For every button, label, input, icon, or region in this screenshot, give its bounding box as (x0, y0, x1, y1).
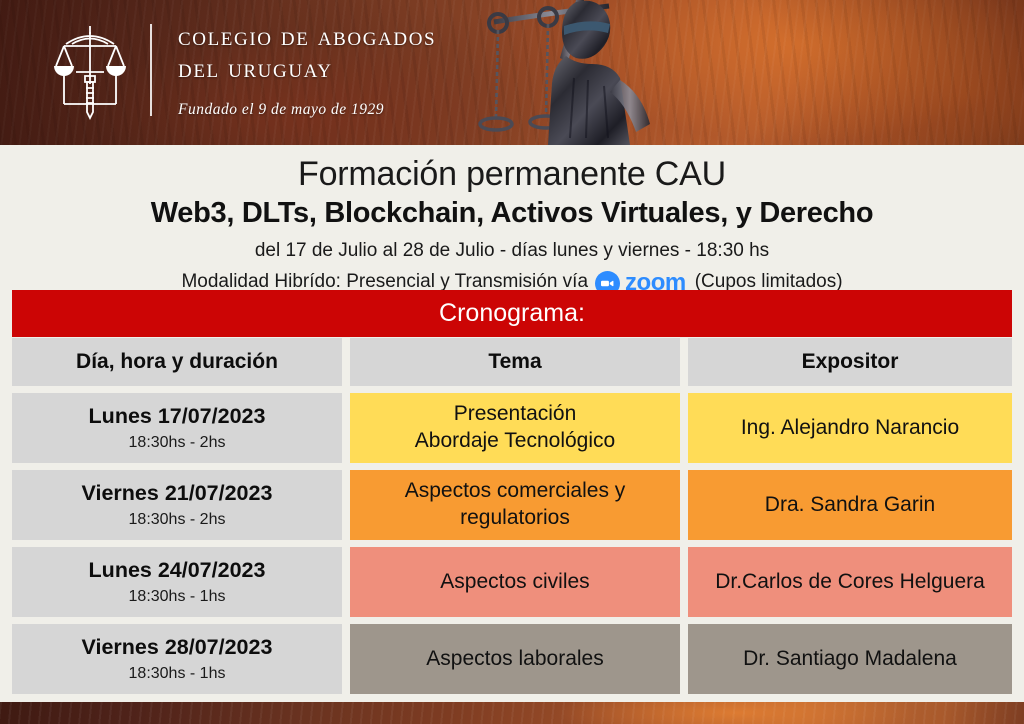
column-gap (680, 547, 688, 617)
footer-texture-overlay (0, 702, 1024, 724)
course-dates: del 17 de Julio al 28 de Julio - días lu… (0, 240, 1024, 263)
org-founded-text: Fundado el 9 de mayo de 1929 (178, 101, 436, 119)
column-gap (342, 547, 350, 617)
column-header-day: Día, hora y duración (12, 338, 342, 386)
column-gap (342, 338, 350, 386)
column-gap (680, 338, 688, 386)
column-gap (342, 393, 350, 463)
organization-name: Colegio de Abogados del Uruguay Fundado … (178, 21, 436, 119)
cell-speaker: Dra. Sandra Garin (688, 470, 1012, 540)
cell-day: Lunes 17/07/2023 18:30hs - 2hs (12, 393, 342, 463)
table-row: Lunes 24/07/2023 18:30hs - 1hs Aspectos … (12, 547, 1012, 617)
poster-root: Colegio de Abogados del Uruguay Fundado … (0, 0, 1024, 724)
footer-strip (0, 702, 1024, 724)
column-gap (680, 624, 688, 694)
cell-topic: Aspectos comerciales y regulatorios (350, 470, 680, 540)
table-header-row: Día, hora y duración Tema Expositor (12, 338, 1012, 386)
column-gap (342, 624, 350, 694)
column-gap (342, 470, 350, 540)
row-day-time: 18:30hs - 2hs (129, 511, 226, 529)
topic-line: Presentación (454, 401, 577, 428)
lady-justice-statue-image (424, 0, 724, 145)
cell-day: Viernes 28/07/2023 18:30hs - 1hs (12, 624, 342, 694)
topic-line: Aspectos laborales (426, 646, 603, 673)
cell-day: Lunes 24/07/2023 18:30hs - 1hs (12, 547, 342, 617)
org-name-line-1: Colegio de Abogados (178, 21, 436, 53)
cell-topic: Presentación Abordaje Tecnológico (350, 393, 680, 463)
row-day-time: 18:30hs - 1hs (129, 588, 226, 606)
logo-divider (150, 24, 152, 116)
column-header-topic: Tema (350, 338, 680, 386)
cell-topic: Aspectos civiles (350, 547, 680, 617)
table-row: Viernes 21/07/2023 18:30hs - 2hs Aspecto… (12, 470, 1012, 540)
topic-line: Abordaje Tecnológico (415, 428, 615, 455)
schedule-banner: Cronograma: (12, 290, 1012, 337)
header-banner: Colegio de Abogados del Uruguay Fundado … (0, 0, 1024, 145)
topic-line: regulatorios (460, 505, 570, 532)
topic-line: Aspectos civiles (440, 569, 589, 596)
title-area: Formación permanente CAU Web3, DLTs, Blo… (0, 145, 1024, 295)
org-name-line-2: del Uruguay (178, 53, 436, 85)
cell-speaker: Dr.Carlos de Cores Helguera (688, 547, 1012, 617)
cell-speaker: Ing. Alejandro Narancio (688, 393, 1012, 463)
scales-of-justice-icon (52, 20, 128, 120)
organization-logo: Colegio de Abogados del Uruguay Fundado … (52, 14, 436, 126)
row-day-time: 18:30hs - 2hs (129, 434, 226, 452)
row-day-name: Lunes 17/07/2023 (89, 404, 266, 429)
topic-line: Aspectos comerciales y (405, 478, 626, 505)
schedule-table: Cronograma: Día, hora y duración Tema Ex… (12, 290, 1012, 694)
table-row: Viernes 28/07/2023 18:30hs - 1hs Aspecto… (12, 624, 1012, 694)
page-title: Formación permanente CAU (0, 154, 1024, 194)
page-subtitle: Web3, DLTs, Blockchain, Activos Virtuale… (0, 196, 1024, 231)
row-day-name: Viernes 21/07/2023 (82, 481, 273, 506)
cell-topic: Aspectos laborales (350, 624, 680, 694)
row-day-name: Lunes 24/07/2023 (89, 558, 266, 583)
table-row: Lunes 17/07/2023 18:30hs - 2hs Presentac… (12, 393, 1012, 463)
column-gap (680, 393, 688, 463)
row-day-name: Viernes 28/07/2023 (82, 635, 273, 660)
cell-speaker: Dr. Santiago Madalena (688, 624, 1012, 694)
cell-day: Viernes 21/07/2023 18:30hs - 2hs (12, 470, 342, 540)
row-day-time: 18:30hs - 1hs (129, 665, 226, 683)
column-gap (680, 470, 688, 540)
column-header-speaker: Expositor (688, 338, 1012, 386)
